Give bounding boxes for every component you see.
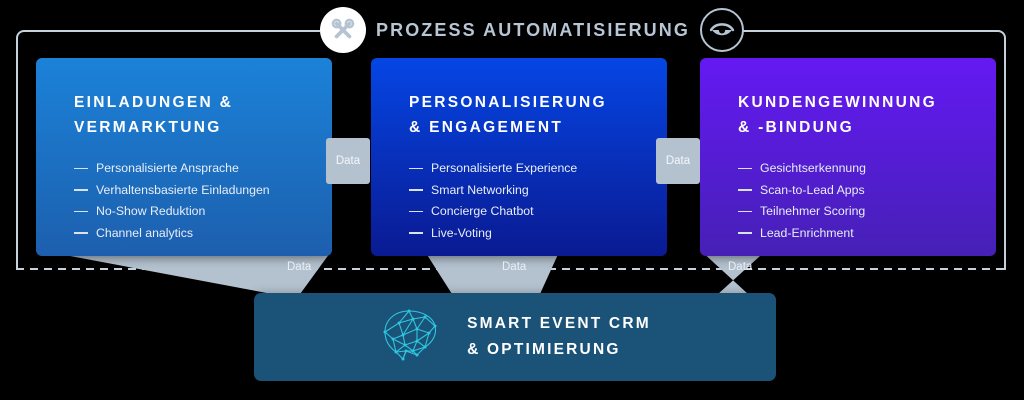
bullet-dash-icon (738, 211, 752, 213)
card-kundengewinnung-bindung[interactable]: KUNDENGEWINNUNG & -BINDUNG Gesichtserken… (700, 58, 996, 256)
list-item: Smart Networking (409, 180, 667, 202)
list-item: Scan-to-Lead Apps (738, 180, 996, 202)
bullet-dash-icon (738, 232, 752, 234)
bullet-dash-icon (74, 232, 88, 234)
connector-data-card3-crm: Data (728, 261, 752, 273)
connector-data-card2-card3: Data (656, 138, 700, 184)
list-item-label: Channel analytics (96, 223, 193, 245)
list-item-label: Lead-Enrichment (760, 223, 854, 245)
brain-network-icon (379, 307, 441, 368)
card-title: KUNDENGEWINNUNG & -BINDUNG (738, 90, 996, 140)
process-header: PROZESS AUTOMATISIERUNG (320, 6, 744, 54)
bullet-dash-icon (409, 189, 423, 191)
list-item-label: Gesichtserkennung (760, 158, 866, 180)
list-item-label: Verhaltensbasierte Einladungen (96, 180, 270, 202)
connector-data-card1-crm: Data (287, 261, 311, 273)
list-item-label: Smart Networking (431, 180, 529, 202)
bullet-dash-icon (409, 232, 423, 234)
card-title: EINLADUNGEN & VERMARKTUNG (74, 90, 332, 140)
bullet-dash-icon (409, 211, 423, 213)
bullet-dash-icon (74, 168, 88, 170)
page-title: PROZESS AUTOMATISIERUNG (376, 20, 690, 41)
bullet-dash-icon (74, 211, 88, 213)
card-feature-list: Personalisierte Ansprache Verhaltensbasi… (74, 158, 332, 244)
card-personalisierung-engagement[interactable]: PERSONALISIERUNG & ENGAGEMENT Personalis… (371, 58, 667, 256)
bullet-dash-icon (738, 189, 752, 191)
list-item: Personalisierte Ansprache (74, 158, 332, 180)
list-item: Lead-Enrichment (738, 223, 996, 245)
connector-data-card1-card2: Data (326, 138, 370, 184)
bullet-dash-icon (74, 189, 88, 191)
list-item: Personalisierte Experience (409, 158, 667, 180)
list-item-label: Personalisierte Ansprache (96, 158, 239, 180)
crm-title: SMART EVENT CRM & OPTIMIERUNG (467, 311, 651, 363)
connector-data-card2-crm: Data (502, 261, 526, 273)
tools-icon (320, 7, 366, 53)
list-item: Teilnehmer Scoring (738, 201, 996, 223)
list-item: No-Show Reduktion (74, 201, 332, 223)
card-title: PERSONALISIERUNG & ENGAGEMENT (409, 90, 667, 140)
eye-monitoring-icon (700, 8, 744, 52)
card-einladungen-vermarktung[interactable]: EINLADUNGEN & VERMARKTUNG Personalisiert… (36, 58, 332, 256)
list-item: Live-Voting (409, 223, 667, 245)
list-item-label: No-Show Reduktion (96, 201, 205, 223)
bullet-dash-icon (409, 168, 423, 170)
list-item-label: Concierge Chatbot (431, 201, 534, 223)
list-item-label: Scan-to-Lead Apps (760, 180, 865, 202)
list-item: Concierge Chatbot (409, 201, 667, 223)
list-item: Channel analytics (74, 223, 332, 245)
list-item: Verhaltensbasierte Einladungen (74, 180, 332, 202)
bullet-dash-icon (738, 168, 752, 170)
list-item-label: Personalisierte Experience (431, 158, 577, 180)
list-item: Gesichtserkennung (738, 158, 996, 180)
smart-event-crm-box[interactable]: SMART EVENT CRM & OPTIMIERUNG (254, 293, 776, 381)
card-feature-list: Personalisierte Experience Smart Network… (409, 158, 667, 244)
list-item-label: Teilnehmer Scoring (760, 201, 865, 223)
card-feature-list: Gesichtserkennung Scan-to-Lead Apps Teil… (738, 158, 996, 244)
diagram-canvas: PROZESS AUTOMATISIERUNG EINLADUNGEN & VE… (0, 0, 1024, 400)
list-item-label: Live-Voting (431, 223, 492, 245)
